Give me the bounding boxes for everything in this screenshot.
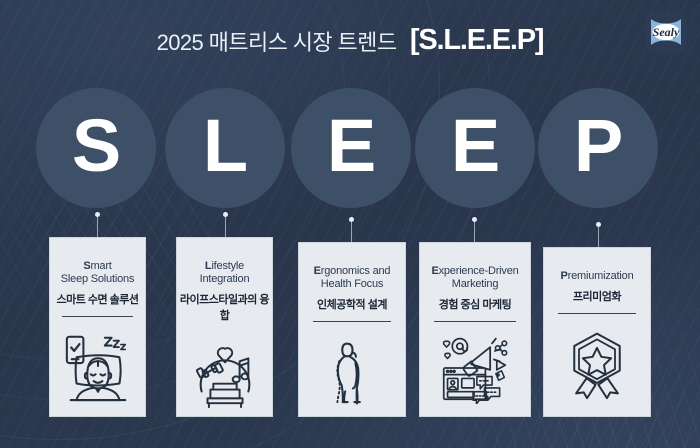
sleeping-person-smartphone-icon (50, 317, 145, 416)
connector-line-5 (598, 227, 599, 247)
card-title-ko-3: 인체공학적 설계 (317, 296, 387, 312)
card-title-rest-5: remiumization (568, 270, 634, 282)
card-title-en-4: Experience-Driven Marketing (431, 252, 518, 291)
connector-line-4 (474, 222, 475, 242)
letter-e2: E (451, 109, 499, 183)
letter-p: P (574, 109, 622, 183)
letter-s: S (72, 109, 120, 183)
body-posture-spine-icon (299, 322, 405, 416)
sleep-acronym-circles: S L E E P (0, 88, 700, 208)
header: 2025 매트리스 시장 트렌드 [S.L.E.E.P] (0, 24, 700, 57)
card-title-initial-3: E (314, 265, 321, 277)
letter-circle-e2: E (415, 88, 535, 208)
page-title-korean: 2025 매트리스 시장 트렌드 (157, 25, 397, 57)
card-title-rest-4: xperience-Driven Marketing (439, 265, 519, 290)
page-title-acronym: [S.L.E.E.P] (410, 24, 543, 57)
connector-line-3 (351, 222, 352, 242)
letter-e1: E (327, 109, 375, 183)
card-title-en-3: Ergonomics and Health Focus (314, 252, 391, 291)
card-title-ko-2: 라이프스타일과의 융합 (177, 291, 272, 323)
letter-circle-e1: E (291, 88, 411, 208)
megaphone-digital-marketing-icon (420, 322, 530, 416)
trend-card-lifestyle-integration[interactable]: Lifestyle Integration 라이프스타일과의 융합 (176, 237, 273, 417)
lifestyle-heart-dumbbell-music-bed-icon (177, 332, 272, 416)
card-title-en-1: Smart Sleep Solutions (61, 247, 134, 286)
letter-circle-p: P (538, 88, 658, 208)
award-badge-star-icon (544, 314, 650, 416)
card-title-en-2: Lifestyle Integration (200, 247, 250, 286)
card-title-initial-4: E (431, 265, 438, 277)
trend-card-ergonomics-health-focus[interactable]: Ergonomics and Health Focus 인체공학적 설계 (298, 242, 406, 417)
card-title-ko-5: 프리미엄화 (573, 288, 621, 304)
trend-card-smart-sleep-solutions[interactable]: Smart Sleep Solutions 스마트 수면 솔루션 (49, 237, 146, 417)
trend-card-experience-driven-marketing[interactable]: Experience-Driven Marketing 경험 중심 마케팅 (419, 242, 531, 417)
sealy-logo[interactable]: Sealy (644, 10, 688, 54)
card-title-rest-1: mart Sleep Solutions (61, 260, 134, 285)
letter-circle-s: S (36, 88, 156, 208)
connector-line-1 (97, 217, 98, 237)
card-title-ko-1: 스마트 수면 솔루션 (56, 291, 138, 307)
sealy-logo-text: Sealy (653, 25, 680, 39)
card-title-en-5: Premiumization (560, 257, 633, 283)
trend-card-premiumization[interactable]: Premiumization 프리미엄화 (543, 247, 651, 417)
letter-l: L (203, 109, 247, 183)
connector-line-2 (225, 217, 226, 237)
letter-circle-l: L (165, 88, 285, 208)
card-title-rest-3: rgonomics and Health Focus (321, 265, 391, 290)
card-title-initial-5: P (560, 270, 567, 282)
card-title-ko-4: 경험 중심 마케팅 (439, 296, 511, 312)
